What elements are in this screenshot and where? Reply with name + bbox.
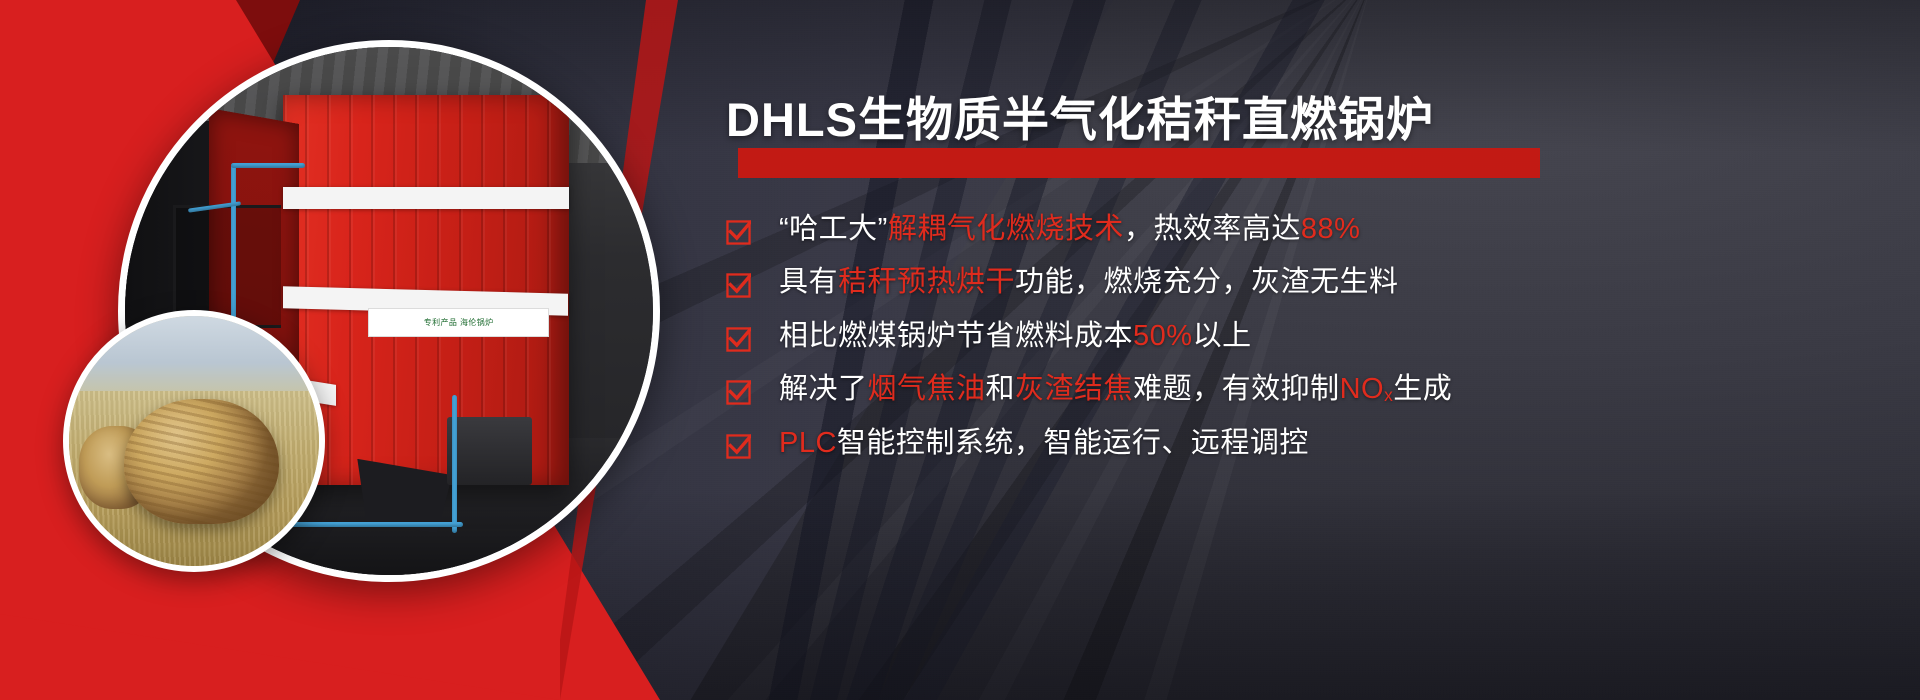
feature-plain-text: 具有 — [779, 266, 838, 298]
feature-highlight-text: PLC — [779, 427, 837, 459]
straw-bale-primary — [124, 399, 279, 524]
feature-list: “哈工大”解耦气化燃烧技术，热效率高达88%具有秸秆预热烘干功能，燃烧充分，灰渣… — [726, 212, 1856, 479]
page-title: DHLS生物质半气化秸秆直燃锅炉 — [726, 96, 1434, 143]
feature-plain-text: 难题，有效抑制 — [1133, 373, 1340, 405]
feature-plain-text: ，热效率高达 — [1124, 213, 1301, 245]
straw-photo-sky — [69, 316, 319, 401]
checkbox-checked-icon — [726, 380, 751, 405]
feature-plain-text: 和 — [986, 373, 1016, 405]
feature-item: PLC智能控制系统，智能运行、远程调控 — [726, 426, 1856, 461]
feature-plain-text: 智能控制系统，智能运行、远程调控 — [837, 427, 1309, 459]
feature-highlight-text: 解耦气化燃烧技术 — [888, 213, 1124, 245]
feature-plain-text: 以上 — [1193, 320, 1252, 352]
feature-item: 具有秸秆预热烘干功能，燃烧充分，灰渣无生料 — [726, 265, 1856, 300]
promo-banner: 专利产品 海伦锅炉 DHLS生物质半气化秸秆直燃锅炉 “哈工大”解耦气化燃烧技术… — [0, 0, 1920, 700]
feature-item-text: 解决了烟气焦油和灰渣结焦难题，有效抑制NOx生成 — [779, 372, 1452, 407]
photo-blue-pipe — [231, 163, 305, 168]
feature-highlight-text: NO — [1340, 373, 1385, 405]
feature-item-text: 相比燃煤锅炉节省燃料成本50%以上 — [779, 319, 1252, 354]
feature-plain-text: 功能，燃烧充分，灰渣无生料 — [1015, 266, 1399, 298]
feature-plain-text: 生成 — [1393, 373, 1452, 405]
checkbox-checked-icon — [726, 220, 751, 245]
feature-plain-text: 解决了 — [779, 373, 868, 405]
feature-item: 相比燃煤锅炉节省燃料成本50%以上 — [726, 319, 1856, 354]
feature-plain-text: “哈工大” — [779, 213, 888, 245]
feature-plain-text: 相比燃煤锅炉节省燃料成本 — [779, 320, 1133, 352]
feature-item-text: “哈工大”解耦气化燃烧技术，热效率高达88% — [779, 212, 1360, 247]
checkbox-checked-icon — [726, 273, 751, 298]
feature-highlight-text: 烟气焦油 — [868, 373, 986, 405]
feature-item-text: PLC智能控制系统，智能运行、远程调控 — [779, 426, 1309, 461]
feature-item: “哈工大”解耦气化燃烧技术，热效率高达88% — [726, 212, 1856, 247]
photo-boiler-nameplate: 专利产品 海伦锅炉 — [368, 308, 550, 336]
photo-boiler-stripe — [283, 187, 568, 209]
headline-block: DHLS生物质半气化秸秆直燃锅炉 — [726, 96, 1434, 143]
feature-item-text: 具有秸秆预热烘干功能，燃烧充分，灰渣无生料 — [779, 265, 1399, 300]
checkbox-checked-icon — [726, 327, 751, 352]
photo-blue-pipe — [452, 395, 457, 532]
feature-item: 解决了烟气焦油和灰渣结焦难题，有效抑制NOx生成 — [726, 372, 1856, 407]
feature-highlight-text: 秸秆预热烘干 — [838, 266, 1015, 298]
straw-bale-photo — [63, 310, 325, 572]
headline-underline-bar — [738, 148, 1540, 178]
feature-highlight-text: 88% — [1301, 213, 1361, 245]
feature-subscript-text: x — [1384, 385, 1393, 405]
photo-motor-unit — [447, 417, 531, 486]
checkbox-checked-icon — [726, 434, 751, 459]
feature-highlight-text: 50% — [1133, 320, 1193, 352]
feature-highlight-text: 灰渣结焦 — [1015, 373, 1133, 405]
